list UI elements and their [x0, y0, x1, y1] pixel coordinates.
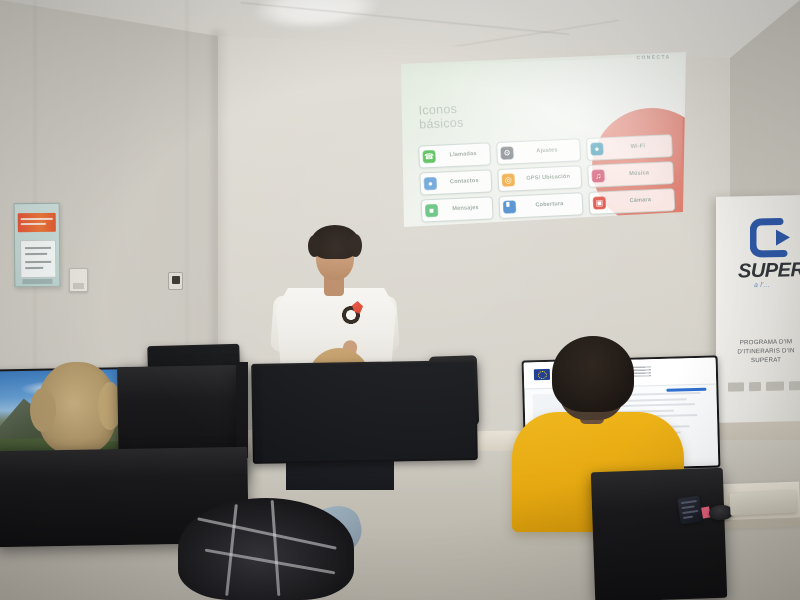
- monitor-center-large: [251, 360, 478, 464]
- slide-tile-label: Cámara: [610, 197, 671, 206]
- poster-header-band: [18, 213, 56, 232]
- gear-icon: ⚙: [500, 146, 514, 160]
- slide-content: CONECTA Iconos básicos ☎ Llamadas ⚙ Ajus…: [394, 46, 690, 234]
- slide-tile: ● Contactos: [419, 169, 492, 195]
- slide-tile-label: Ajustes: [517, 147, 576, 156]
- banner-brand: SUPER: [738, 259, 800, 283]
- slide-tile: ◎ GPS/ Ubicación: [497, 165, 582, 192]
- slide-brand-logo: CONECTA: [636, 54, 670, 61]
- banner-program-line-3: SUPERAT: [726, 355, 800, 366]
- smartphone: [677, 496, 702, 525]
- banner-sponsor-logos: [728, 381, 800, 392]
- slide-tile-label: Wi-Fi: [607, 143, 668, 152]
- projection-surface: CONECTA Iconos básicos ☎ Llamadas ⚙ Ajus…: [398, 52, 686, 227]
- slide-tile-label: Llamadas: [440, 151, 487, 159]
- light-switch: [69, 268, 88, 292]
- slide-icon-grid: ☎ Llamadas ⚙ Ajustes ● Wi-Fi ● Contactos: [418, 134, 671, 222]
- slide-tile-label: Cobertura: [520, 201, 579, 210]
- messages-icon: ■: [425, 204, 439, 218]
- slide-tile: ■ Mensajes: [421, 196, 494, 222]
- photo-scene: CONECTA Iconos básicos ☎ Llamadas ⚙ Ajus…: [0, 0, 800, 600]
- banner-subtitle: a l'...: [754, 282, 770, 289]
- camera-icon: ▣: [593, 196, 607, 210]
- monitor-center-large-screen: [253, 362, 476, 462]
- slide-title: Iconos básicos: [418, 102, 464, 132]
- foreground-cap: [178, 498, 354, 600]
- slide-tile: ♫ Música: [587, 161, 674, 188]
- slide-tile-label: GPS/ Ubicación: [519, 174, 578, 183]
- presenter-hair: [311, 225, 359, 259]
- slide-tile: ▣ Cámara: [588, 188, 675, 215]
- keyboard: [729, 490, 796, 515]
- signal-icon: ▘: [503, 200, 517, 214]
- wall-socket: [168, 272, 183, 290]
- slide-tile-label: Música: [609, 170, 670, 179]
- slide-tile: ⚙ Ajustes: [496, 138, 581, 165]
- monitor-edge-midground: [236, 362, 248, 458]
- slide-title-line-2: básicos: [419, 116, 464, 132]
- student-curly-left-hair: [38, 362, 116, 454]
- poster-footer: [22, 279, 52, 284]
- student-yellow-hair: [552, 336, 634, 412]
- phone-icon: ☎: [422, 150, 436, 164]
- banner-program-text: PROGRAMA D'IM D'ITINERARIS D'IN SUPERAT: [726, 337, 800, 366]
- banner-logo-icon: [750, 217, 796, 258]
- slide-tile-label: Contactos: [441, 178, 488, 186]
- slide-tile: ● Wi-Fi: [586, 134, 673, 161]
- presenter-shirt-logo: [340, 304, 362, 326]
- slide-tile: ▘ Cobertura: [499, 192, 584, 219]
- monitor-back-foreground-right: [591, 468, 727, 600]
- poster-body-card: [20, 240, 56, 278]
- slide-tile-label: Mensajes: [442, 205, 489, 213]
- eu-flag-icon: [534, 368, 550, 379]
- slide-tile: ☎ Llamadas: [418, 142, 491, 168]
- wifi-icon: ●: [590, 142, 604, 156]
- projection-screen: CONECTA Iconos básicos ☎ Llamadas ⚙ Ajus…: [398, 52, 686, 227]
- wall-poster: [14, 203, 61, 287]
- location-icon: ◎: [502, 173, 516, 187]
- contacts-icon: ●: [424, 177, 438, 191]
- music-icon: ♫: [591, 169, 605, 183]
